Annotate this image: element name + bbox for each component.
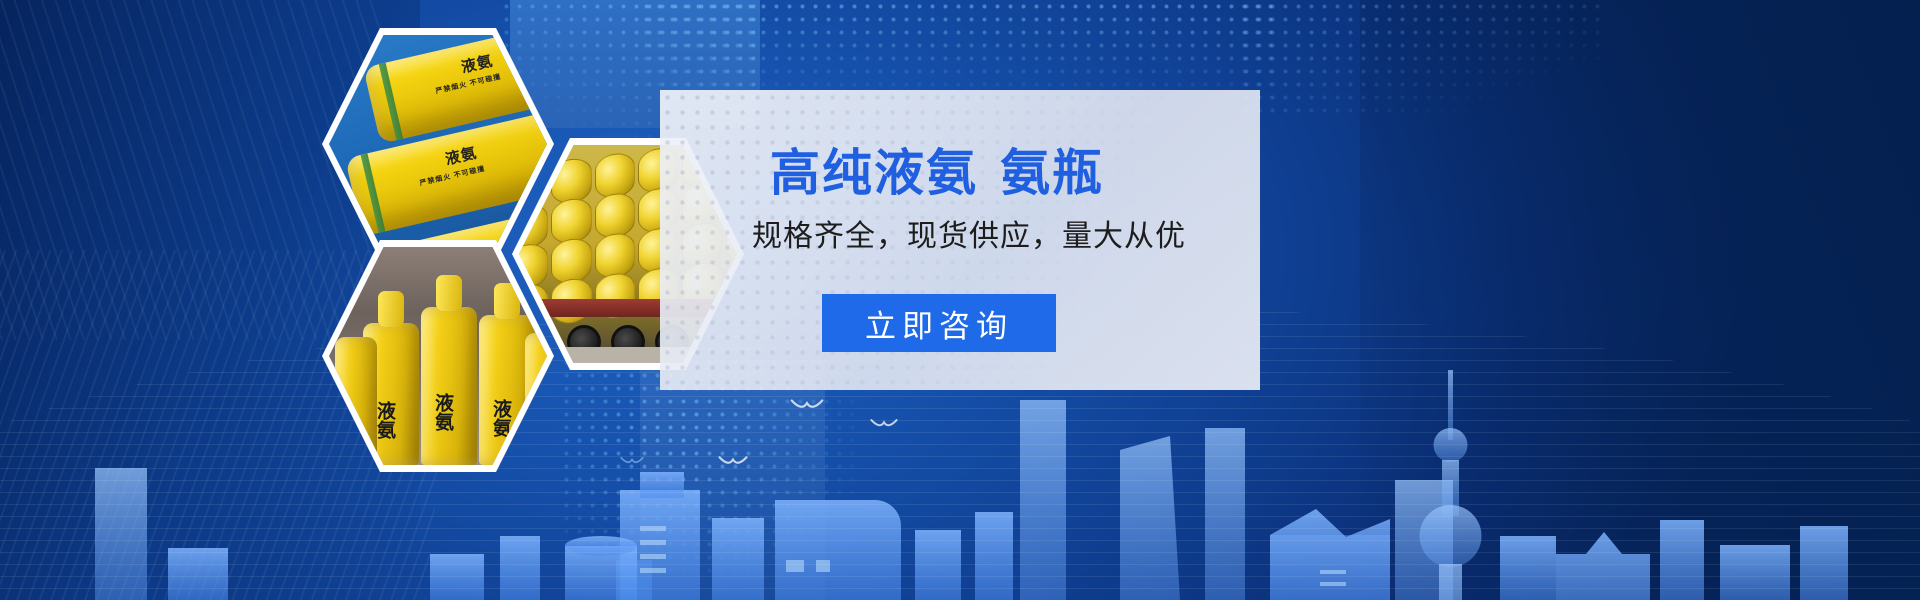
subtitle: 规格齐全，现货供应，量大从优 (752, 222, 1186, 252)
headline-primary: 高纯液氨 (770, 145, 978, 201)
blue-block-small (616, 560, 652, 600)
bird-icon (620, 456, 644, 472)
halftone-dots-right (1240, 0, 1600, 120)
photo-upright-cylinders: 液氨 液氨 液氨 (329, 247, 547, 465)
product-photo-hex-top: 液氨 严禁烟火 不可碰撞 液氨 严禁烟火 不可碰撞 (322, 28, 554, 260)
line-fan-top (0, 0, 380, 340)
content-panel: 高纯液氨氨瓶 规格齐全，现货供应，量大从优 立即咨询 (660, 90, 1260, 390)
bird-icon (790, 398, 824, 414)
product-photo-hex-bottom: 液氨 液氨 液氨 (322, 240, 554, 472)
bird-icon (870, 418, 898, 434)
blue-block-mid (640, 360, 825, 600)
cylinder-label: 液氨 (371, 401, 398, 439)
headline-secondary: 氨瓶 (1000, 145, 1104, 201)
photo-ammonia-cylinders-sky: 液氨 严禁烟火 不可碰撞 液氨 严禁烟火 不可碰撞 (329, 35, 547, 253)
cylinder-label: 液氨 (429, 393, 456, 431)
headline: 高纯液氨氨瓶 (770, 148, 1104, 198)
background-right-gradient (1360, 0, 1920, 600)
cylinder-label: 液氨 (487, 399, 514, 437)
product-banner: 液氨 严禁烟火 不可碰撞 液氨 严禁烟火 不可碰撞 (0, 0, 1920, 600)
consult-now-button[interactable]: 立即咨询 (822, 294, 1056, 352)
oriental-pearl-tower (1415, 370, 1487, 600)
bird-icon (718, 455, 748, 471)
